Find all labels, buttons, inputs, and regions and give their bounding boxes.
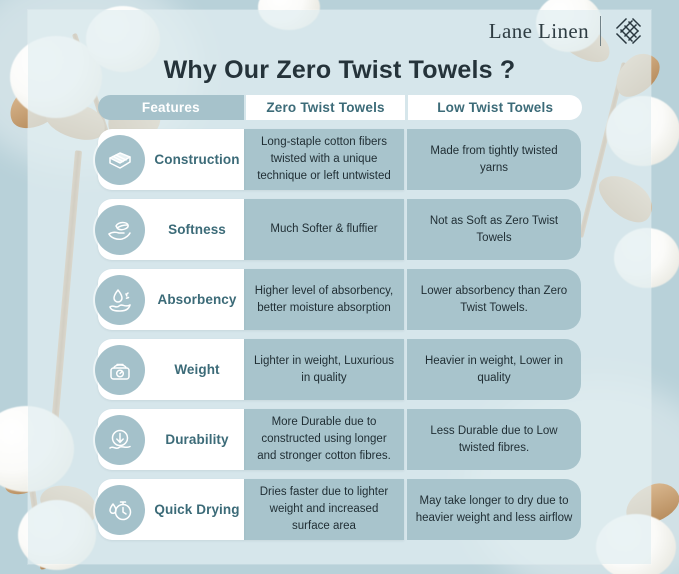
low-twist-cell: Heavier in weight, Lower in quality: [407, 339, 581, 400]
low-twist-cell: Less Durable due to Low twisted fibres.: [407, 409, 581, 470]
header-zero-twist: Zero Twist Towels: [246, 95, 406, 120]
table-row: Softness Much Softer & fluffier Not as S…: [98, 199, 582, 260]
header-low-twist: Low Twist Towels: [408, 95, 582, 120]
table-row: Quick Drying Dries faster due to lighter…: [98, 479, 582, 540]
zero-twist-cell: Dries faster due to lighter weight and i…: [244, 479, 404, 540]
stopwatch-droplet-icon: [95, 485, 145, 535]
feature-cell: Weight: [98, 339, 244, 400]
feature-label: Weight: [150, 362, 244, 378]
feature-label: Absorbency: [150, 292, 244, 308]
feature-cell: Construction: [98, 129, 244, 190]
feature-label: Durability: [150, 432, 244, 448]
low-twist-cell: Not as Soft as Zero Twist Towels: [407, 199, 581, 260]
feature-cell: Softness: [98, 199, 244, 260]
table-row: Weight Lighter in weight, Luxurious in q…: [98, 339, 582, 400]
water-droplet-absorb-icon: [95, 275, 145, 325]
table-row: Absorbency Higher level of absorbency, b…: [98, 269, 582, 330]
folded-towel-icon: [95, 135, 145, 185]
feature-label: Softness: [150, 222, 244, 238]
table-row: Construction Long-staple cotton fibers t…: [98, 129, 582, 190]
low-twist-cell: May take longer to dry due to heavier we…: [407, 479, 581, 540]
table-header-row: Features Zero Twist Towels Low Twist Tow…: [98, 95, 582, 120]
zero-twist-cell: Higher level of absorbency, better moist…: [244, 269, 404, 330]
brand-logo[interactable]: Lane Linen: [489, 16, 642, 46]
low-twist-cell: Made from tightly twisted yarns: [407, 129, 581, 190]
feature-cell: Absorbency: [98, 269, 244, 330]
header-features: Features: [98, 95, 244, 120]
brand-name: Lane Linen: [489, 19, 589, 44]
feature-cell: Quick Drying: [98, 479, 244, 540]
arrow-down-waves-icon: [95, 415, 145, 465]
feature-cell: Durability: [98, 409, 244, 470]
zero-twist-cell: More Durable due to constructed using lo…: [244, 409, 404, 470]
page-title: Why Our Zero Twist Towels ?: [0, 56, 679, 85]
woven-lattice-icon: [612, 16, 642, 46]
weighing-scale-icon: [95, 345, 145, 395]
zero-twist-cell: Lighter in weight, Luxurious in quality: [244, 339, 404, 400]
comparison-table: Features Zero Twist Towels Low Twist Tow…: [98, 95, 582, 540]
feature-label: Quick Drying: [150, 502, 244, 518]
zero-twist-cell: Much Softer & fluffier: [244, 199, 404, 260]
low-twist-cell: Lower absorbency than Zero Twist Towels.: [407, 269, 581, 330]
feature-label: Construction: [150, 152, 244, 168]
zero-twist-cell: Long-staple cotton fibers twisted with a…: [244, 129, 404, 190]
table-row: Durability More Durable due to construct…: [98, 409, 582, 470]
hand-feather-icon: [95, 205, 145, 255]
logo-divider: [600, 16, 601, 46]
